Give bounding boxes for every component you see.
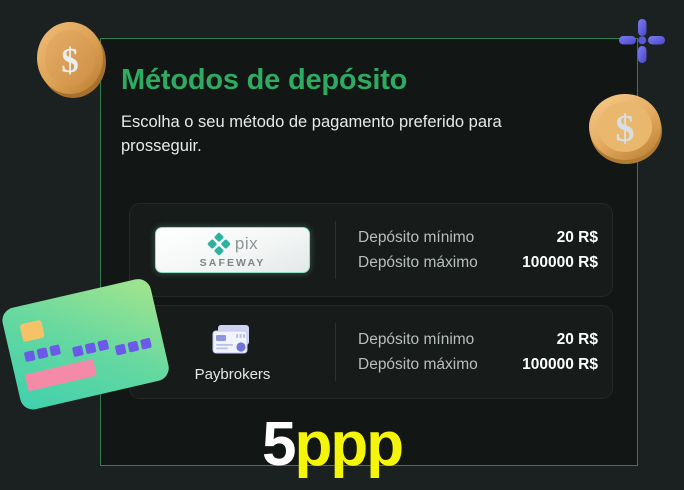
deposit-min-value: 20 R$	[557, 225, 598, 250]
deposit-min-label: Depósito mínimo	[358, 327, 474, 352]
paybrokers-deposit-limits: Depósito mínimo 20 R$ Depósito máximo 10…	[358, 327, 612, 377]
page-subtitle: Escolha o seu método de pagamento prefer…	[121, 111, 576, 159]
paybrokers-logo-cell: Paybrokers	[130, 306, 335, 398]
pix-logo: pix SAFEWAY	[155, 227, 310, 273]
deposit-max-label: Depósito máximo	[358, 250, 478, 275]
svg-text:$: $	[61, 41, 79, 80]
deposit-max-row: Depósito máximo 100000 R$	[358, 250, 598, 275]
pix-mark-row: pix	[207, 232, 258, 256]
pix-wordmark: pix	[235, 235, 258, 252]
pix-deposit-limits: Depósito mínimo 20 R$ Depósito máximo 10…	[358, 225, 612, 275]
pix-diamond-icon	[207, 232, 231, 256]
payment-methods-list: pix SAFEWAY Depósito mínimo 20 R$ Depósi…	[129, 203, 613, 399]
payment-method-paybrokers[interactable]: Paybrokers Depósito mínimo 20 R$ Depósit…	[129, 305, 613, 399]
credit-card-icon	[209, 321, 257, 359]
deposit-max-label: Depósito máximo	[358, 352, 478, 377]
method-divider	[335, 221, 336, 279]
method-divider	[335, 323, 336, 381]
deposit-max-value: 100000 R$	[522, 250, 598, 275]
gold-coin-dollar-icon: $	[33, 16, 109, 100]
watermark-overlay: 5ppp	[262, 414, 402, 476]
pix-logo-cell: pix SAFEWAY	[130, 204, 335, 296]
modal-content: Métodos de depósito Escolha o seu método…	[101, 39, 637, 465]
deposit-min-value: 20 R$	[557, 327, 598, 352]
safeway-wordmark: SAFEWAY	[200, 257, 266, 269]
watermark-digit: 5	[262, 410, 294, 479]
page-title: Métodos de depósito	[121, 65, 615, 97]
deposit-min-row: Depósito mínimo 20 R$	[358, 327, 598, 352]
deposit-max-value: 100000 R$	[522, 352, 598, 377]
paybrokers-label: Paybrokers	[195, 366, 271, 383]
payment-method-pix-safeway[interactable]: pix SAFEWAY Depósito mínimo 20 R$ Depósi…	[129, 203, 613, 297]
deposit-max-row: Depósito máximo 100000 R$	[358, 352, 598, 377]
deposit-methods-modal: Métodos de depósito Escolha o seu método…	[100, 38, 638, 466]
deposit-min-row: Depósito mínimo 20 R$	[358, 225, 598, 250]
watermark-text: ppp	[294, 410, 402, 479]
deposit-min-label: Depósito mínimo	[358, 225, 474, 250]
